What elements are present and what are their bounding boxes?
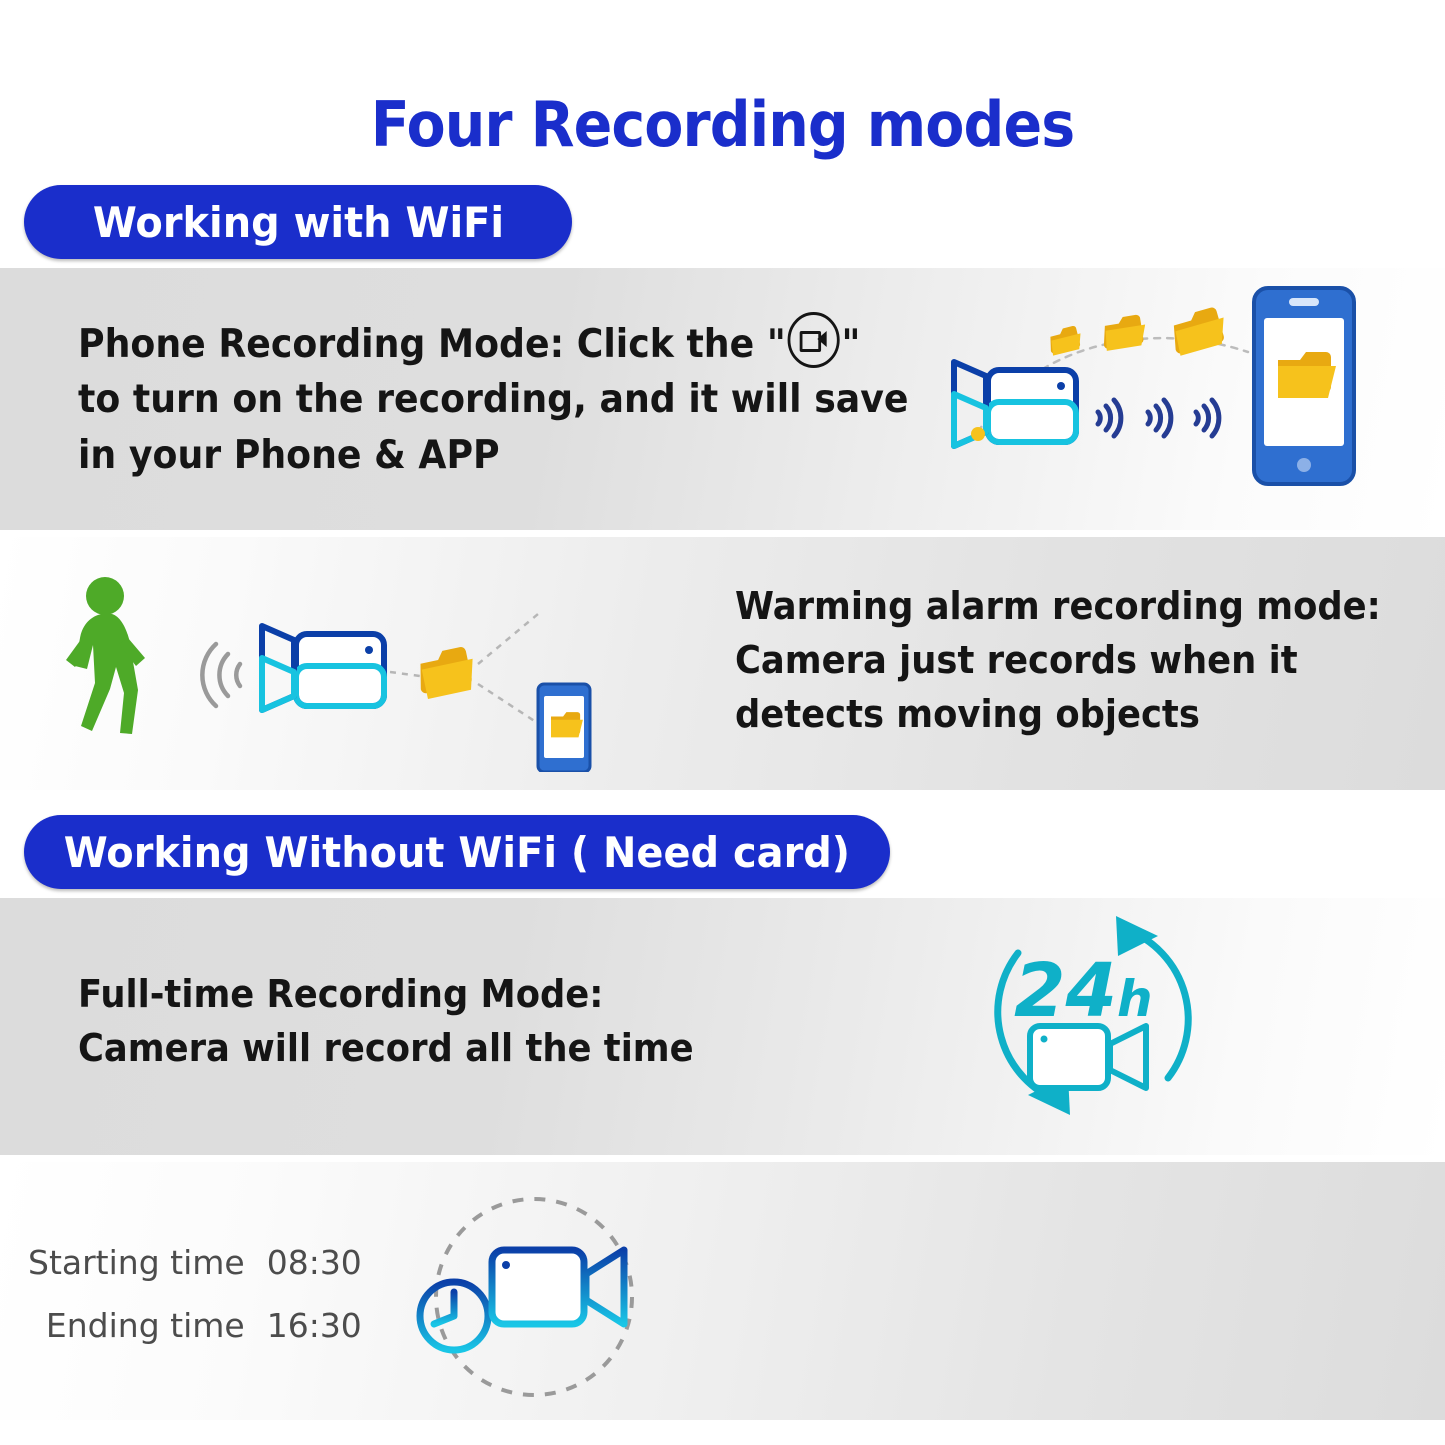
schedule-times: Starting time 08:30 Ending time 16:30 (28, 1232, 377, 1357)
section-header-working-with-wifi: Working with WiFi (24, 185, 572, 259)
illustration-motion-detection (58, 572, 698, 772)
copy-line: Camera will record all the time (78, 1022, 694, 1076)
ending-time-value: 16:30 (267, 1295, 377, 1358)
copy-line: detects moving objects (735, 688, 1381, 742)
copy-line-tail: " (842, 322, 861, 367)
smartphone-icon (538, 684, 590, 772)
copy-line: Warming alarm recording mode: (735, 580, 1381, 634)
arrow-head-icon (1116, 916, 1158, 956)
folder-icon (414, 645, 479, 700)
smartphone-icon (1254, 288, 1354, 484)
illustration-24h-recording: 24h (978, 908, 1208, 1123)
copy-line: in your Phone & APP (78, 428, 909, 483)
infographic-page: Four Recording modes Working with WiFi P… (0, 0, 1445, 1445)
starting-time-value: 08:30 (267, 1232, 377, 1295)
camera-icon (492, 1250, 624, 1324)
copy-line: Camera just records when it (735, 634, 1381, 688)
illustration-timed-recording (392, 1192, 667, 1410)
section-header-label: Working with WiFi (92, 198, 503, 247)
motion-wave-icon (202, 644, 240, 706)
full-time-recording-mode-text: Full-time Recording Mode: Camera will re… (78, 968, 740, 1076)
starting-time-label: Starting time (28, 1232, 245, 1295)
illustration-camera-wifi-folders-to-phone (948, 282, 1368, 500)
schedule-start-row: Starting time 08:30 (28, 1232, 377, 1295)
ending-time-label: Ending time (46, 1295, 245, 1358)
schedule-end-row: Ending time 16:30 (28, 1295, 377, 1358)
walking-person-icon (66, 577, 145, 734)
camera-icon (1030, 1026, 1146, 1088)
section-header-working-without-wifi: Working Without WiFi ( Need card) (24, 815, 890, 889)
camera-icon (262, 626, 384, 710)
copy-line-text: Phone Recording Mode: Click the " (78, 322, 786, 367)
clock-icon (420, 1282, 488, 1350)
section-header-label: Working Without WiFi ( Need card) (64, 828, 850, 877)
copy-line: Phone Recording Mode: Click the "" (78, 312, 909, 372)
badge-24h-label: 24h (1014, 948, 1153, 1034)
copy-line: to turn on the recording, and it will sa… (78, 372, 909, 427)
page-title: Four Recording modes (58, 88, 1387, 161)
copy-line: Full-time Recording Mode: (78, 968, 694, 1022)
video-camera-circle-icon (788, 312, 840, 368)
phone-recording-mode-text: Phone Recording Mode: Click the "" to tu… (78, 312, 971, 483)
wifi-signal-icon (1098, 400, 1219, 436)
warming-alarm-recording-mode-text: Warming alarm recording mode: Camera jus… (735, 580, 1429, 742)
